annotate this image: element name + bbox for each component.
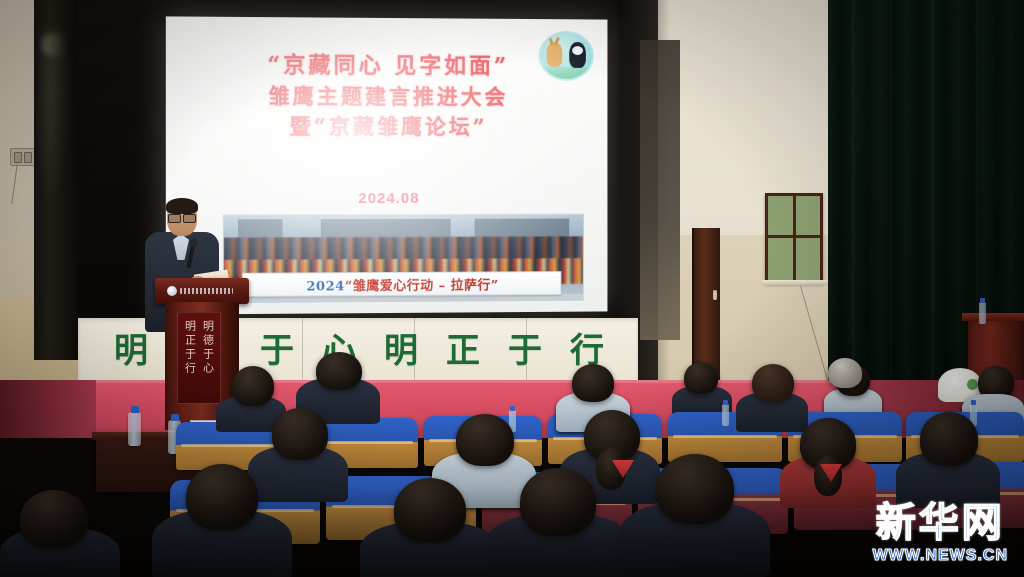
audience-head [456,414,514,466]
podium-deck [155,278,249,304]
photo-caption-text: 2024“雏鹰爱心行动 – 拉萨行” [306,274,498,294]
water-bottle-icon [979,302,986,324]
audience-head [20,490,88,548]
audience-head [520,468,596,536]
photo-caption-year: 2024 [306,279,344,294]
photo-caption-body: “雏鹰爱心行动 – 拉萨行” [345,278,499,294]
window-sill [762,280,828,285]
conference-hall-scene: “京藏同心 见字如面” 雏鹰主题建言推进大会 暨“京藏雏鹰论坛” 2024.08 [0,0,1024,577]
watermark-url: WWW.NEWS.CN [873,547,1008,565]
pillar-highlight [42,34,66,56]
window-mullion-horizontal [768,235,820,238]
slide-date: 2024.08 [166,190,608,208]
slide-title-line2: 雏鹰主题建言推进大会 [166,81,608,113]
audience-head [232,366,274,406]
emblem-seal [167,286,177,296]
audience-head [394,478,466,542]
audience-head [752,364,794,402]
mascot-badge-icon [539,31,594,81]
watermark: 新华网 WWW.NEWS.CN [873,503,1008,565]
bouquet-leaf-icon [967,379,978,390]
speaker-glasses-icon [168,214,196,221]
watermark-brand: 新华网 [873,503,1008,543]
audience-area [0,352,1024,577]
wall-socket-icon [10,148,36,166]
door-knob-icon [713,290,717,300]
photo-caption-banner: 2024“雏鹰爱心行动 – 拉萨行” [242,271,561,297]
photo-building [321,219,451,237]
audience-head [186,464,258,530]
secondary-podium-top [962,313,1024,321]
projection-screen: “京藏同心 见字如面” 雏鹰主题建言推进大会 暨“京藏雏鹰论坛” 2024.08 [166,16,608,314]
news-photo-canvas: “京藏同心 见字如面” 雏鹰主题建言推进大会 暨“京藏雏鹰论坛” 2024.08 [0,0,1024,577]
audience-head [572,364,614,402]
pillar-sheen [38,28,70,218]
audience-head [920,412,978,466]
window-icon [765,193,823,283]
left-dark-pillar [34,0,78,360]
institution-emblem-icon [167,285,233,296]
audience-head [272,408,328,460]
mascot-antelope-icon [547,43,563,67]
audience-head [684,362,718,394]
audience-head [316,352,362,390]
water-bottle-icon [722,404,729,426]
mascot-grass [541,67,592,79]
mascot-panda-icon [569,42,586,68]
slide-title-line3: 暨“京藏雏鹰论坛” [166,112,608,143]
speaker-hair [166,198,198,214]
slide-group-photo: 2024“雏鹰爱心行动 – 拉萨行” [223,214,584,304]
window-mullion-vertical [793,196,796,280]
audience-head [828,358,862,388]
wall-recess [640,40,680,340]
audience-head [656,454,734,524]
emblem-lettering [180,288,233,294]
